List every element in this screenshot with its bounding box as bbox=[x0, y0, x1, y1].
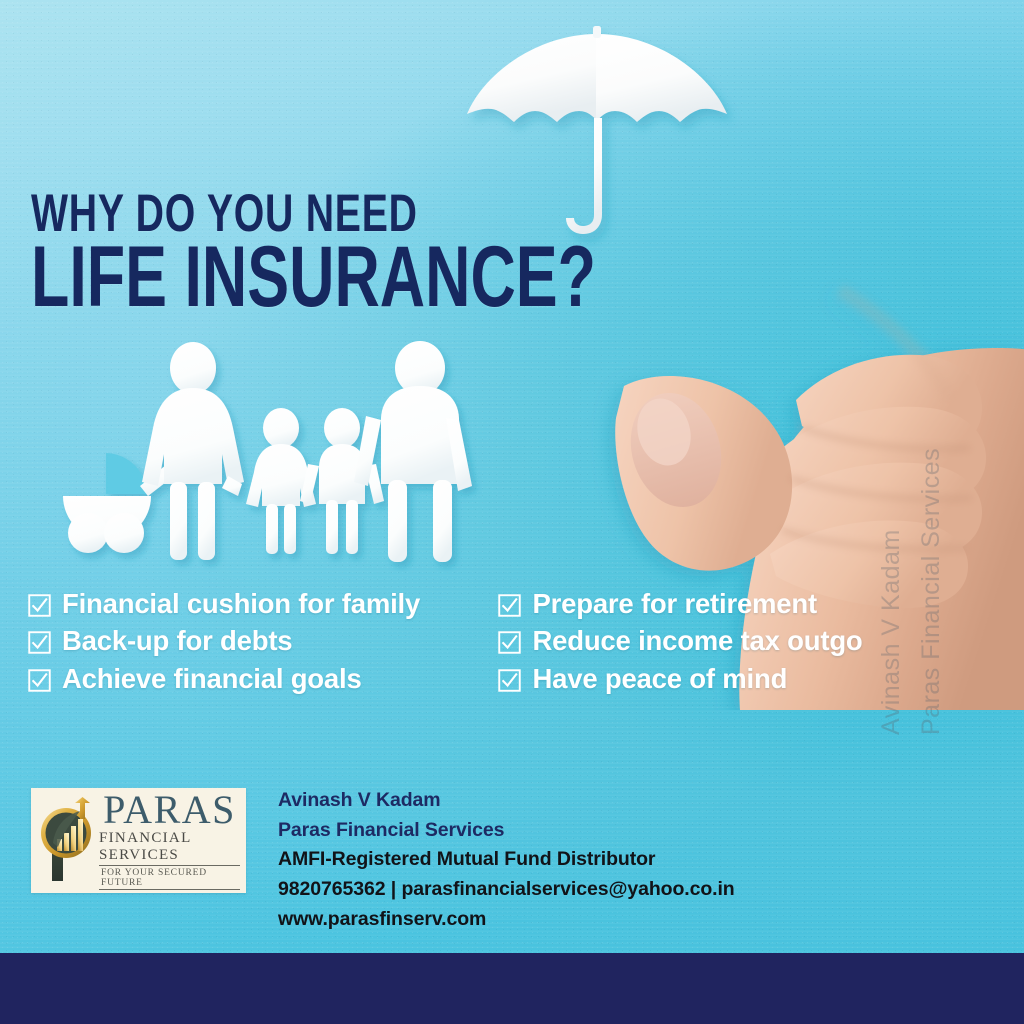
benefits-checklist: Financial cushion for family Back-up for… bbox=[28, 588, 928, 695]
checklist-label: Have peace of mind bbox=[532, 663, 787, 695]
checklist-label: Back-up for debts bbox=[62, 625, 292, 657]
checked-box-icon bbox=[498, 631, 521, 654]
headline-line-2: LIFE INSURANCE? bbox=[31, 236, 596, 319]
contact-credential: AMFI-Registered Mutual Fund Distributor bbox=[278, 845, 735, 875]
checked-box-icon bbox=[498, 669, 521, 692]
list-item: Have peace of mind bbox=[498, 663, 928, 695]
contact-company: Paras Financial Services bbox=[278, 816, 735, 846]
logo-wordmark: PARAS FINANCIAL SERVICES FOR YOUR SECURE… bbox=[99, 791, 240, 890]
checklist-label: Achieve financial goals bbox=[62, 663, 362, 695]
list-item: Achieve financial goals bbox=[28, 663, 482, 695]
logo-tagline: FOR YOUR SECURED FUTURE bbox=[99, 868, 240, 890]
logo-word: PARAS bbox=[103, 791, 236, 829]
checklist-label: Prepare for retirement bbox=[532, 588, 816, 620]
contact-block: Avinash V Kadam Paras Financial Services… bbox=[278, 786, 735, 934]
checked-box-icon bbox=[28, 669, 51, 692]
contact-phone-email: 9820765362 | parasfinancialservices@yaho… bbox=[278, 875, 735, 905]
checked-box-icon bbox=[28, 631, 51, 654]
watermark-company: Paras Financial Services bbox=[917, 448, 946, 735]
brand-logo: PARAS FINANCIAL SERVICES FOR YOUR SECURE… bbox=[31, 788, 246, 893]
insurance-flyer: WHY DO YOU NEED LIFE INSURANCE? Financia… bbox=[0, 0, 1024, 1024]
footer-bar bbox=[0, 953, 1024, 1024]
list-item: Prepare for retirement bbox=[498, 588, 928, 620]
checked-box-icon bbox=[28, 594, 51, 617]
paras-monogram-icon bbox=[39, 797, 95, 885]
checklist-label: Financial cushion for family bbox=[62, 588, 420, 620]
contact-name: Avinash V Kadam bbox=[278, 786, 735, 816]
checklist-column-left: Financial cushion for family Back-up for… bbox=[28, 588, 482, 695]
contact-website[interactable]: www.parasfinserv.com bbox=[278, 905, 735, 935]
list-item: Financial cushion for family bbox=[28, 588, 482, 620]
list-item: Back-up for debts bbox=[28, 625, 482, 657]
checked-box-icon bbox=[498, 594, 521, 617]
logo-subtitle: FINANCIAL SERVICES bbox=[99, 830, 240, 866]
checklist-column-right: Prepare for retirement Reduce income tax… bbox=[498, 588, 928, 695]
list-item: Reduce income tax outgo bbox=[498, 625, 928, 657]
page-title: WHY DO YOU NEED LIFE INSURANCE? bbox=[31, 189, 805, 318]
watermark-name: Avinash V Kadam bbox=[877, 529, 906, 735]
checklist-label: Reduce income tax outgo bbox=[532, 625, 862, 657]
